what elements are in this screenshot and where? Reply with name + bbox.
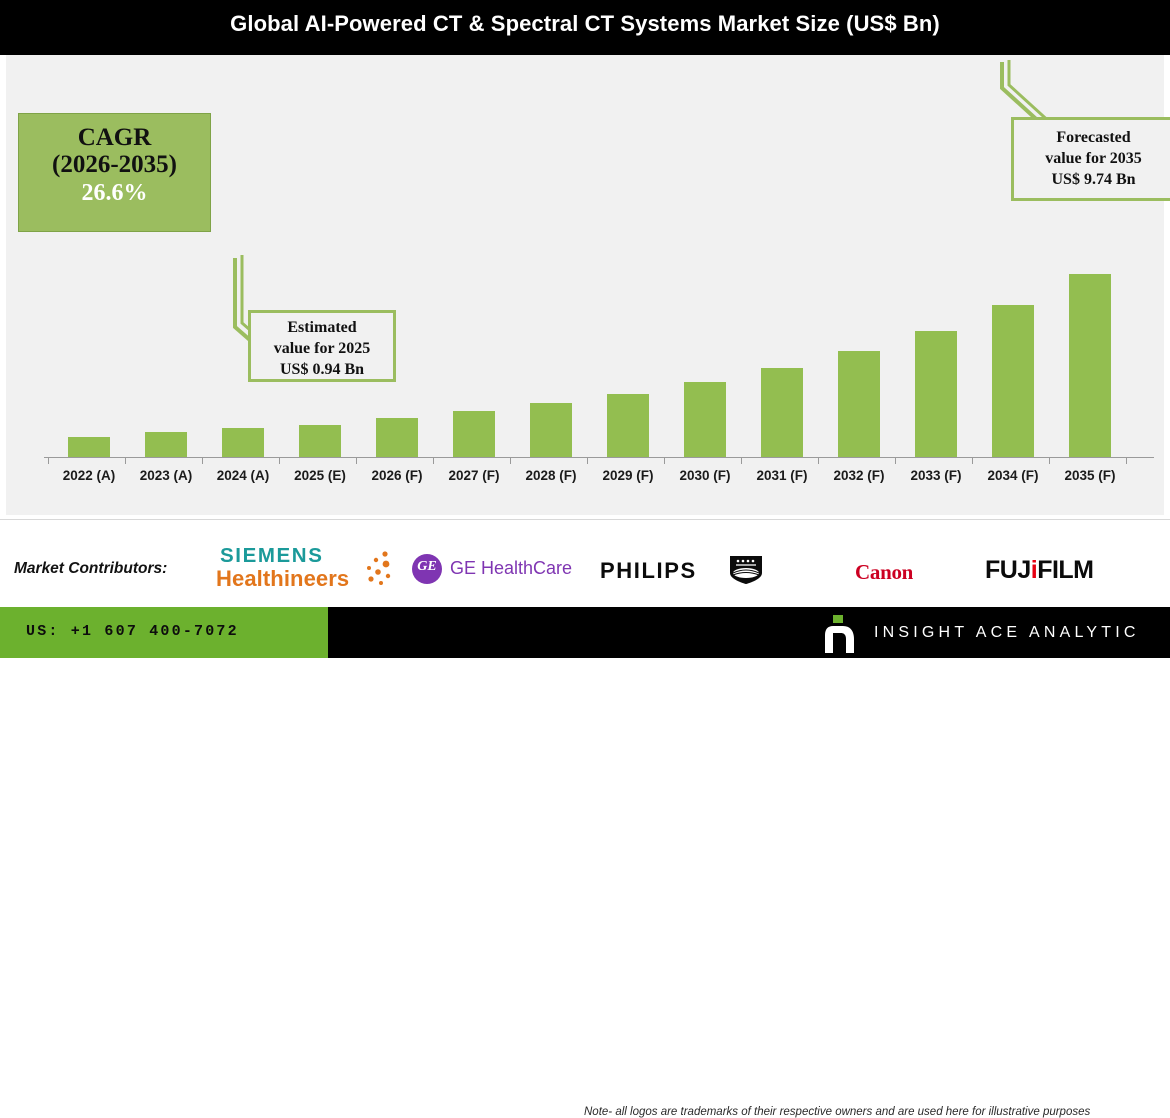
contact-phone: US: +1 607 400-7072 [26, 623, 239, 640]
cagr-value: 26.6% [19, 180, 210, 208]
fujifilm-text-after: FILM [1037, 556, 1093, 584]
title-bar: Global AI-Powered CT & Spectral CT Syste… [0, 0, 1170, 55]
siemens-healthineers-logo: SIEMENS Healthineers [216, 546, 391, 594]
forecasted-callout-line3: US$ 9.74 Bn [1014, 170, 1170, 191]
canon-wordmark: Canon [855, 562, 950, 583]
fujifilm-wordmark: FUJiFILM [985, 558, 1145, 583]
cagr-period: (2026-2035) [19, 151, 210, 179]
chart-area: 2022 (A)2023 (A)2024 (A)2025 (E)2026 (F)… [6, 55, 1164, 515]
market-contributors-label: Market Contributors: [14, 560, 167, 578]
page-title: Global AI-Powered CT & Spectral CT Syste… [0, 11, 1170, 37]
insight-ace-logo-icon [820, 615, 862, 653]
logo-trademark-note: Note- all logos are trademarks of their … [584, 1106, 1090, 1118]
siemens-dots-icon [355, 548, 395, 588]
philips-logo: PHILIPS [600, 558, 775, 588]
ge-monogram-text: GE [412, 559, 442, 575]
philips-shield-icon [729, 555, 763, 585]
ge-healthcare-logo: GE GE HealthCare [412, 554, 562, 588]
estimated-callout-line2: value for 2025 [251, 339, 393, 360]
brand-name: INSIGHT ACE ANALYTIC [874, 624, 1140, 642]
canon-logo: Canon [855, 562, 950, 588]
estimated-value-callout: Estimated value for 2025 US$ 0.94 Bn [248, 310, 396, 382]
estimated-callout-line3: US$ 0.94 Bn [251, 360, 393, 381]
forecasted-callout-line2: value for 2035 [1014, 149, 1170, 170]
market-contributors-strip: Market Contributors: SIEMENS Healthineer… [0, 519, 1170, 606]
fujifilm-text-before: FUJ [985, 556, 1031, 584]
philips-wordmark: PHILIPS [600, 558, 697, 584]
cagr-callout-box: CAGR (2026-2035) 26.6% [18, 113, 211, 232]
estimated-callout-line1: Estimated [251, 318, 393, 339]
market-size-infographic: Global AI-Powered CT & Spectral CT Syste… [0, 0, 1170, 658]
footer-bar: US: +1 607 400-7072 INSIGHT ACE ANALYTIC [0, 607, 1170, 658]
forecasted-value-callout: Forecasted value for 2035 US$ 9.74 Bn [1011, 117, 1170, 201]
fujifilm-logo: FUJiFILM [985, 558, 1145, 588]
forecasted-callout-line1: Forecasted [1014, 128, 1170, 149]
ge-healthcare-wordmark: GE HealthCare [450, 558, 572, 579]
cagr-label: CAGR [19, 124, 210, 151]
ge-monogram-icon: GE [412, 554, 442, 584]
